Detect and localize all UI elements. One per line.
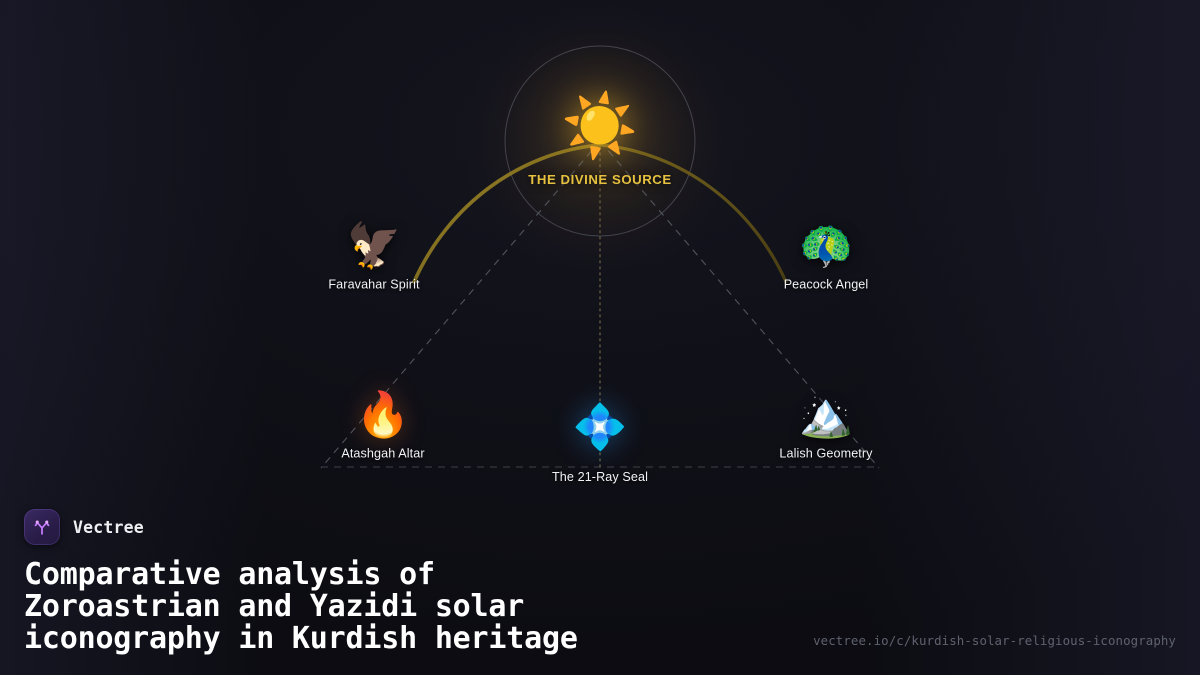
node-lalish-geometry[interactable]: 🏔️ Lalish Geometry: [726, 394, 926, 461]
vectree-tree-logo-icon: [24, 509, 60, 545]
node-label-lalish-geometry: Lalish Geometry: [779, 447, 872, 461]
brand-name: Vectree: [73, 518, 144, 537]
sun-emoji-icon: ☀️: [561, 95, 638, 157]
footer: Vectree Comparative analysis of Zoroastr…: [0, 509, 1200, 675]
snow-capped-mountain-emoji-icon: 🏔️: [799, 394, 854, 438]
node-21-ray-seal[interactable]: 💠 The 21-Ray Seal: [500, 406, 700, 484]
node-divine-source[interactable]: ☀️ THE DIVINE SOURCE: [500, 95, 700, 187]
page-title-line-3: iconography in Kurdish heritage: [24, 623, 784, 655]
eagle-emoji-icon: 🦅: [347, 225, 402, 269]
node-label-peacock-angel: Peacock Angel: [784, 278, 869, 292]
node-label-21-ray-seal: The 21-Ray Seal: [552, 470, 648, 484]
node-faravahar-spirit[interactable]: 🦅 Faravahar Spirit: [274, 225, 474, 292]
infographic-canvas: ☀️ THE DIVINE SOURCE 🦅 Faravahar Spirit …: [0, 0, 1200, 675]
brand-lockup[interactable]: Vectree: [24, 509, 1176, 545]
page-title-line-2: Zoroastrian and Yazidi solar: [24, 591, 784, 623]
node-peacock-angel[interactable]: 🦚 Peacock Angel: [726, 225, 926, 292]
diamond-with-dot-emoji-icon: 💠: [573, 406, 628, 450]
node-label-atashgah-altar: Atashgah Altar: [341, 447, 424, 461]
page-title: Comparative analysis of Zoroastrian and …: [24, 559, 784, 655]
node-label-divine-source: THE DIVINE SOURCE: [528, 172, 671, 187]
fire-emoji-icon: 🔥: [356, 394, 411, 438]
page-title-line-1: Comparative analysis of: [24, 559, 784, 591]
source-url[interactable]: vectree.io/c/kurdish-solar-religious-ico…: [813, 633, 1176, 648]
peacock-emoji-icon: 🦚: [799, 225, 854, 269]
node-atashgah-altar[interactable]: 🔥 Atashgah Altar: [283, 394, 483, 461]
node-label-faravahar-spirit: Faravahar Spirit: [328, 278, 419, 292]
